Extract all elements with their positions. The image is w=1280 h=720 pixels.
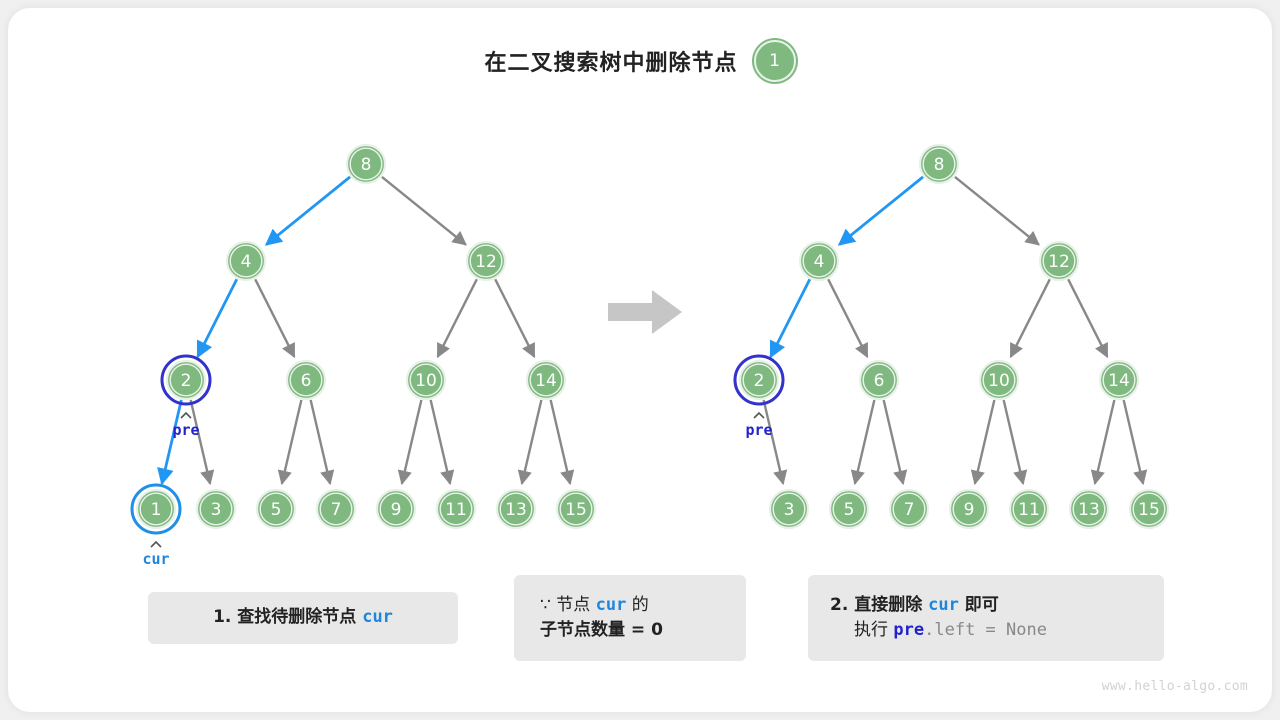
tree-node: 9 bbox=[950, 490, 988, 528]
tree-node: 13 bbox=[497, 490, 535, 528]
tree-edge bbox=[1068, 279, 1107, 356]
pointer-label-pre: pre bbox=[172, 421, 199, 439]
tree-node-label: 13 bbox=[1078, 500, 1100, 520]
tree-node: 6 bbox=[860, 361, 898, 399]
caption-step-2-suffix: 即可 bbox=[959, 595, 999, 615]
caption-step-2-line-1: 2. 直接删除 cur 即可 bbox=[830, 593, 1164, 619]
tree-node: 15 bbox=[1130, 490, 1168, 528]
tree-node-label: 5 bbox=[844, 500, 855, 520]
step-transition-arrow-icon bbox=[608, 290, 682, 334]
page-root: 在二叉搜索树中删除节点1 precurpre 84122610141357911… bbox=[0, 0, 1280, 720]
pointer-markers-layer: precurpre bbox=[132, 356, 783, 568]
tree-node-label: 9 bbox=[391, 500, 402, 520]
caption-step-1: 1. 查找待删除节点 cur bbox=[148, 592, 458, 644]
caption-reason-suffix: 的 bbox=[626, 595, 648, 615]
tree-node-label: 10 bbox=[988, 371, 1010, 391]
tree-node-label: 5 bbox=[271, 500, 282, 520]
diagram-card: 在二叉搜索树中删除节点1 precurpre 84122610141357911… bbox=[8, 8, 1272, 712]
tree-edge bbox=[522, 400, 541, 484]
tree-node: 12 bbox=[1040, 242, 1078, 280]
caption-step-2-line-2: 执行 pre.left = None bbox=[830, 618, 1164, 644]
tree-edge bbox=[191, 400, 210, 484]
tree-edge bbox=[438, 279, 477, 356]
tree-edge bbox=[255, 279, 294, 356]
pointer-caret bbox=[181, 413, 191, 418]
tree-edge bbox=[1095, 400, 1114, 484]
tree-node-label: 7 bbox=[904, 500, 915, 520]
tree-node: 8 bbox=[920, 145, 958, 183]
tree-node-label: 14 bbox=[1108, 371, 1130, 391]
pointer-label-cur: cur bbox=[142, 550, 169, 568]
tree-node-label: 10 bbox=[415, 371, 437, 391]
tree-edge bbox=[1004, 400, 1023, 484]
caption-reason-line-1: ∵ 节点 cur 的 bbox=[540, 593, 746, 619]
tree-node: 6 bbox=[287, 361, 325, 399]
tree-node-label: 12 bbox=[1048, 252, 1070, 272]
tree-node-label: 2 bbox=[754, 371, 765, 391]
tree-node-label: 3 bbox=[211, 500, 222, 520]
tree-node-label: 1 bbox=[151, 500, 162, 520]
tree-edge bbox=[198, 279, 237, 356]
tree-node: 2 bbox=[167, 361, 205, 399]
tree-node-label: 7 bbox=[331, 500, 342, 520]
watermark: www.hello-algo.com bbox=[1102, 679, 1248, 694]
caption-step-2-prefix: 2. 直接删除 bbox=[830, 595, 928, 615]
tree-node: 7 bbox=[890, 490, 928, 528]
tree-node: 2 bbox=[740, 361, 778, 399]
tree-node-label: 11 bbox=[445, 500, 467, 520]
tree-node-label: 8 bbox=[934, 155, 945, 175]
tree-edge bbox=[495, 279, 534, 356]
tree-node: 8 bbox=[347, 145, 385, 183]
tree-edge bbox=[551, 400, 570, 484]
tree-node-label: 11 bbox=[1018, 500, 1040, 520]
tree-node: 5 bbox=[830, 490, 868, 528]
tree-edge bbox=[764, 400, 783, 484]
caption-step-1-text: 1. 查找待删除节点 bbox=[213, 607, 362, 627]
tree-node-label: 4 bbox=[241, 252, 252, 272]
caption-step-2-line-2-suffix: .left = None bbox=[924, 620, 1047, 640]
pointer-caret bbox=[754, 413, 764, 418]
tree-node: 10 bbox=[980, 361, 1018, 399]
tree-edge bbox=[382, 177, 466, 245]
tree-node-label: 15 bbox=[1138, 500, 1160, 520]
tree-edge bbox=[282, 400, 301, 484]
transition-arrow-layer bbox=[608, 290, 682, 334]
caption-reason-code: cur bbox=[596, 595, 627, 615]
caption-step-1-line-1: 1. 查找待删除节点 cur bbox=[213, 605, 393, 631]
pointer-label-pre: pre bbox=[745, 421, 772, 439]
tree-node: 4 bbox=[800, 242, 838, 280]
tree-node: 14 bbox=[527, 361, 565, 399]
caption-step-2-line-2-code: pre bbox=[893, 620, 924, 640]
tree-edge bbox=[311, 400, 330, 484]
tree-edge bbox=[1124, 400, 1143, 484]
tree-node-label: 15 bbox=[565, 500, 587, 520]
tree-node-label: 8 bbox=[361, 155, 372, 175]
tree-node: 4 bbox=[227, 242, 265, 280]
caption-reason-prefix: ∵ 节点 bbox=[540, 595, 596, 615]
tree-edge bbox=[975, 400, 994, 484]
tree-node-label: 12 bbox=[475, 252, 497, 272]
tree-edge bbox=[955, 177, 1039, 245]
tree-node-label: 9 bbox=[964, 500, 975, 520]
caption-reason-line-2: 子节点数量 = 0 bbox=[540, 618, 746, 644]
tree-node-label: 3 bbox=[784, 500, 795, 520]
tree-edge bbox=[162, 400, 181, 484]
tree-edge bbox=[839, 177, 923, 245]
tree-node: 13 bbox=[1070, 490, 1108, 528]
tree-edge bbox=[828, 279, 867, 356]
tree-node: 3 bbox=[197, 490, 235, 528]
tree-node: 11 bbox=[437, 490, 475, 528]
pointer-caret bbox=[151, 542, 161, 547]
tree-node-label: 2 bbox=[181, 371, 192, 391]
tree-node: 14 bbox=[1100, 361, 1138, 399]
tree-node-label: 6 bbox=[301, 371, 312, 391]
tree-edge bbox=[431, 400, 450, 484]
nodes-layer: 8412261014135791113158412261014357911131… bbox=[137, 145, 1168, 528]
tree-edge bbox=[1011, 279, 1050, 356]
caption-step-2: 2. 直接删除 cur 即可 执行 pre.left = None bbox=[808, 575, 1164, 661]
tree-node: 5 bbox=[257, 490, 295, 528]
tree-edge bbox=[855, 400, 874, 484]
tree-edge bbox=[266, 177, 350, 245]
tree-node: 9 bbox=[377, 490, 415, 528]
caption-reason: ∵ 节点 cur 的 子节点数量 = 0 bbox=[514, 575, 746, 661]
tree-node: 12 bbox=[467, 242, 505, 280]
caption-step-1-code: cur bbox=[362, 607, 393, 627]
tree-edge bbox=[884, 400, 903, 484]
tree-node: 10 bbox=[407, 361, 445, 399]
tree-edge bbox=[402, 400, 421, 484]
tree-node-label: 14 bbox=[535, 371, 557, 391]
tree-node: 15 bbox=[557, 490, 595, 528]
tree-node-label: 4 bbox=[814, 252, 825, 272]
tree-node: 3 bbox=[770, 490, 808, 528]
caption-step-2-line-2-prefix: 执行 bbox=[854, 620, 893, 640]
tree-node: 7 bbox=[317, 490, 355, 528]
tree-node-label: 13 bbox=[505, 500, 527, 520]
tree-node: 11 bbox=[1010, 490, 1048, 528]
tree-node: 1 bbox=[137, 490, 175, 528]
tree-node-label: 6 bbox=[874, 371, 885, 391]
caption-step-2-code: cur bbox=[928, 595, 959, 615]
tree-edge bbox=[771, 279, 810, 356]
